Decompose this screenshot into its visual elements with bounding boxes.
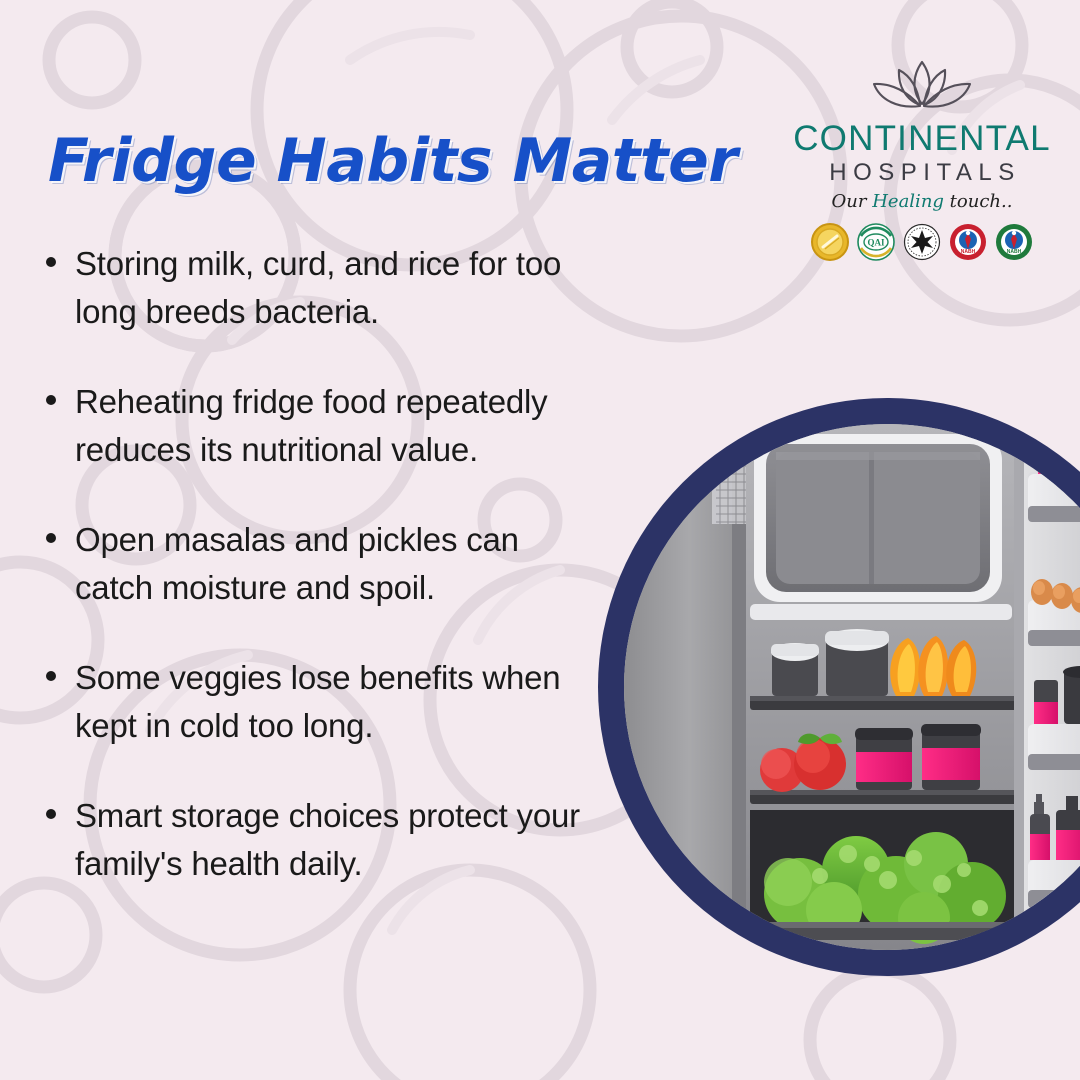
tagline-highlight: Healing: [872, 191, 944, 212]
tagline-part1: Our: [832, 191, 873, 212]
poster-canvas: Fridge Habits Matter Storing milk, curd,…: [0, 0, 1080, 1080]
page-title: Fridge Habits Matter: [48, 126, 737, 196]
svg-text:NABH: NABH: [961, 249, 976, 255]
bullet-dot-icon: [46, 671, 56, 681]
nabh-red-badge: NABH: [948, 222, 988, 262]
photo-ring-frame: [598, 398, 1080, 976]
bullet-list: Storing milk, curd, and rice for too lon…: [42, 240, 602, 930]
tagline-part2: touch..: [944, 191, 1013, 212]
bullet-text: Reheating fridge food repeatedly reduces…: [75, 378, 602, 474]
list-item: Open masalas and pickles can catch moist…: [42, 516, 602, 612]
accreditation-badges: QAI NABH NABH: [788, 222, 1056, 262]
svg-text:NABH: NABH: [1007, 249, 1022, 255]
lotus-icon: [854, 56, 990, 118]
nabh-green-badge: NABH: [994, 222, 1034, 262]
open-refrigerator-photo: [624, 424, 1080, 950]
list-item: Smart storage choices protect your famil…: [42, 792, 602, 888]
bullet-dot-icon: [46, 533, 56, 543]
list-item: Storing milk, curd, and rice for too lon…: [42, 240, 602, 336]
brand-name-primary: CONTINENTAL: [788, 120, 1056, 158]
list-item: Some veggies lose benefits when kept in …: [42, 654, 602, 750]
bullet-text: Open masalas and pickles can catch moist…: [75, 516, 602, 612]
brand-tagline: Our Healing touch..: [788, 190, 1056, 214]
bullet-dot-icon: [46, 395, 56, 405]
gold-medal-badge: [810, 222, 850, 262]
brand-logo: CONTINENTAL HOSPITALS Our Healing touch.…: [788, 56, 1056, 262]
list-item: Reheating fridge food repeatedly reduces…: [42, 378, 602, 474]
bullet-text: Storing milk, curd, and rice for too lon…: [75, 240, 602, 336]
brand-name-secondary: HOSPITALS: [788, 158, 1056, 188]
star-seal-badge: [902, 222, 942, 262]
bullet-text: Smart storage choices protect your famil…: [75, 792, 602, 888]
bullet-dot-icon: [46, 257, 56, 267]
svg-text:QAI: QAI: [867, 238, 885, 248]
qai-accreditation-badge: QAI: [856, 222, 896, 262]
bullet-text: Some veggies lose benefits when kept in …: [75, 654, 602, 750]
bullet-dot-icon: [46, 809, 56, 819]
